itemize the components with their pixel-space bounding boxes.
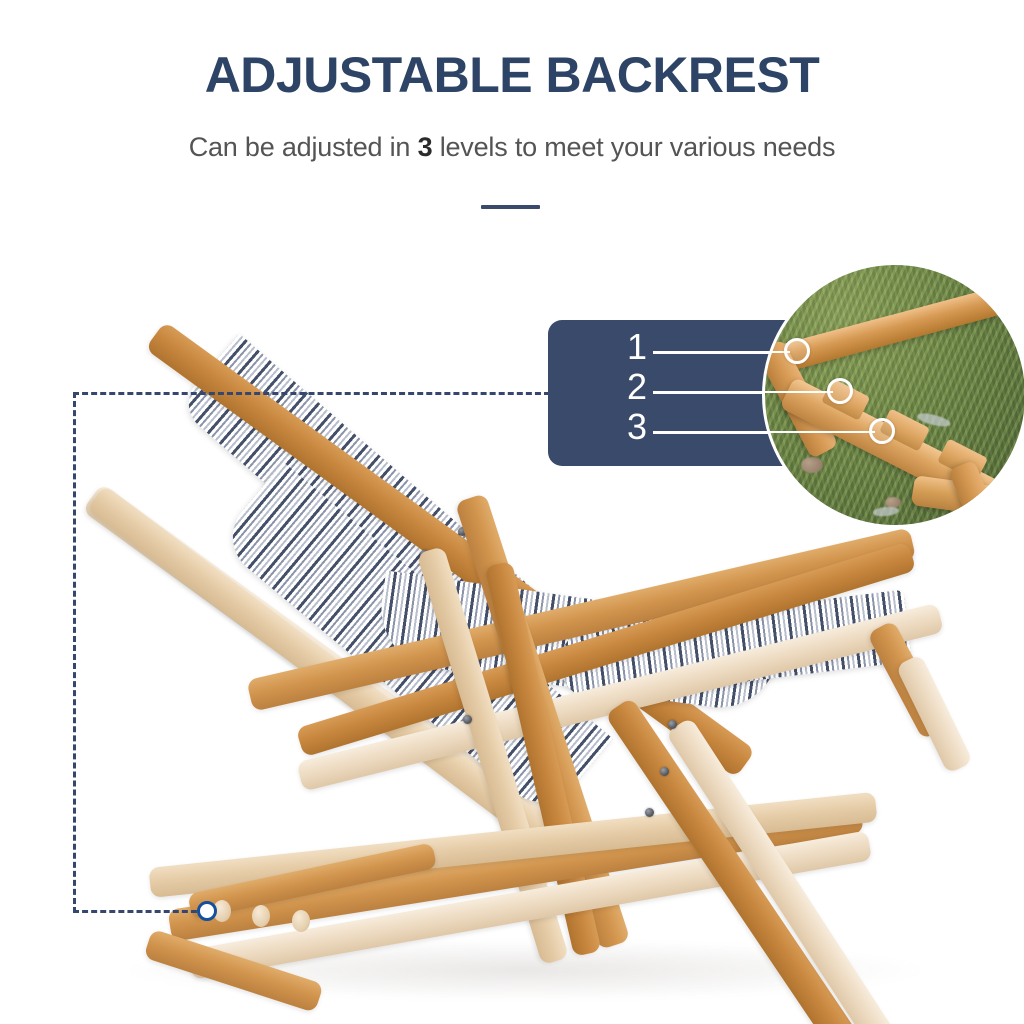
- header-divider: [481, 205, 540, 209]
- screw-right-joint-2: [660, 767, 669, 776]
- callout-number-1: 1: [627, 332, 647, 362]
- callout-leader-extension-3: [653, 431, 875, 433]
- notch-dowel-3: [292, 910, 310, 932]
- callout-number-2: 2: [627, 372, 647, 402]
- page-title: ADJUSTABLE BACKREST: [0, 50, 1024, 100]
- screw-right-joint-1: [668, 720, 677, 729]
- page-subtitle: Can be adjusted in 3 levels to meet your…: [0, 131, 1024, 165]
- notch-marker-1: [784, 338, 810, 364]
- screw-brace-left: [463, 715, 472, 724]
- frame-rail-right-end-pale: [895, 654, 973, 774]
- callout-leader-extension-2: [653, 391, 833, 393]
- infographic-canvas: ADJUSTABLE BACKREST Can be adjusted in 3…: [0, 0, 1024, 1024]
- header: ADJUSTABLE BACKREST Can be adjusted in 3…: [0, 0, 1024, 230]
- callout-number-3: 3: [627, 412, 647, 442]
- subtitle-text-before: Can be adjusted in: [189, 132, 418, 162]
- backrest-notch-closeup-photo: [762, 262, 1024, 528]
- callout-leader-extension-1: [653, 351, 790, 353]
- adjustment-range-guide-baseline: [73, 910, 206, 913]
- notch-marker-3: [869, 418, 895, 444]
- notch-dowel-2: [252, 905, 270, 927]
- subtitle-highlight-number: 3: [418, 132, 433, 162]
- ground-debris-3: [873, 505, 900, 518]
- subtitle-text-after: levels to meet your various needs: [432, 132, 835, 162]
- ground-pebble-1: [801, 457, 823, 473]
- screw-right-joint-3: [645, 808, 654, 817]
- notch-marker-2: [827, 378, 853, 404]
- adjustment-range-endpoint-marker: [197, 901, 217, 921]
